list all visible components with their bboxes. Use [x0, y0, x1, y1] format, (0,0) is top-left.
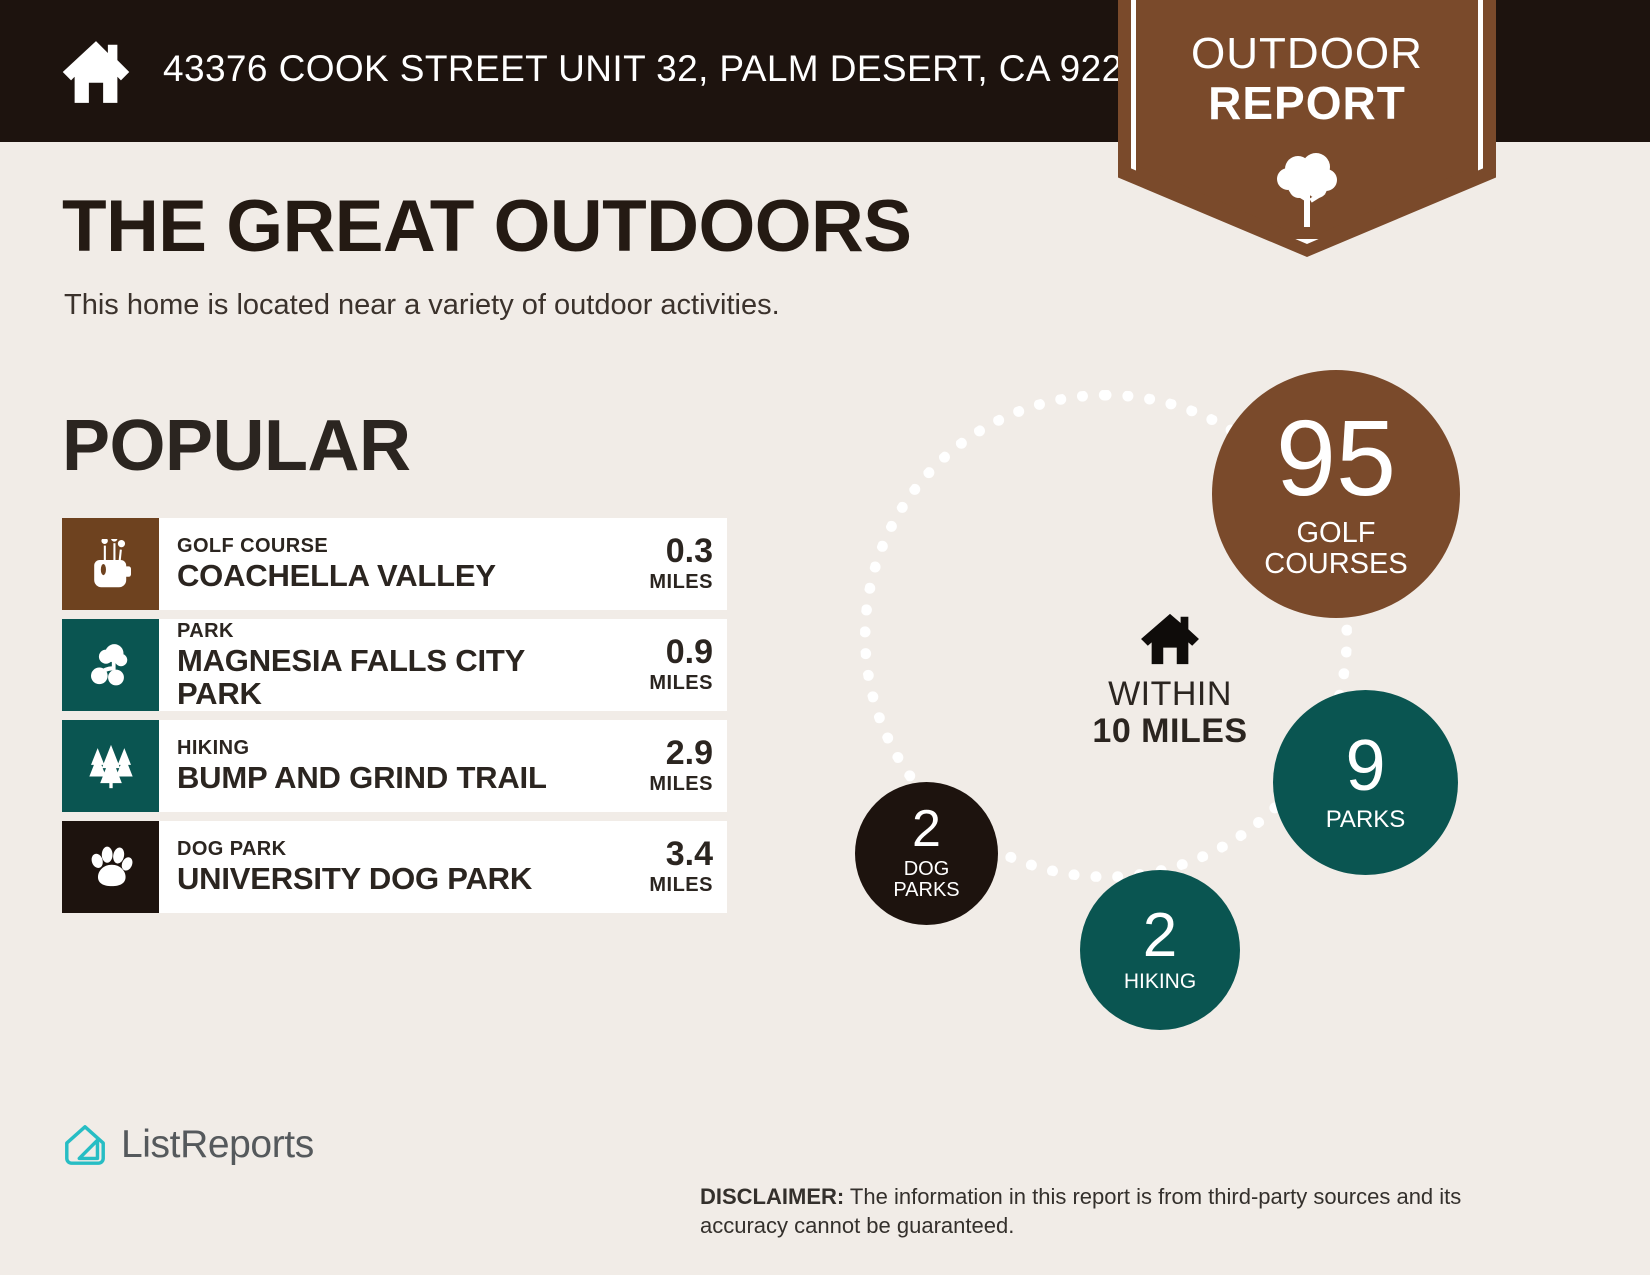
center-line-2: 10 MILES: [1035, 713, 1305, 750]
stat-label: GOLF COURSES: [1264, 518, 1407, 581]
stat-circle-hiking: 2 HIKING: [1080, 870, 1240, 1030]
listreports-wordmark: ListReports: [121, 1123, 314, 1167]
stat-label-line-1: GOLF: [1297, 517, 1376, 549]
disclaimer-label: DISCLAIMER:: [700, 1184, 844, 1209]
list-item-category: GOLF COURSE: [177, 535, 608, 558]
list-item-distance: 0.9 MILES: [608, 619, 727, 711]
paw-print-icon: [88, 844, 134, 890]
tree-icon: [1272, 147, 1342, 229]
stat-value: 2: [912, 805, 941, 854]
disclaimer: DISCLAIMER: The information in this repo…: [700, 1182, 1510, 1240]
stat-circle-golf-courses: 95 GOLF COURSES: [1212, 370, 1460, 618]
stat-label-line-1: DOG: [904, 858, 950, 880]
badge-line-2: REPORT: [1118, 80, 1496, 126]
home-icon: [58, 34, 134, 110]
list-item-distance-unit: MILES: [649, 571, 713, 594]
list-item-icon-tile: [62, 720, 159, 812]
list-item-name: BUMP AND GRIND TRAIL: [177, 762, 608, 795]
list-item-distance-value: 0.9: [666, 635, 713, 669]
popular-list: GOLF COURSE COACHELLA VALLEY 0.3 MILES: [62, 518, 727, 922]
park-tree-icon: [86, 640, 136, 690]
stat-label-line-2: PARKS: [893, 879, 959, 901]
diagram-center: WITHIN 10 MILES: [1035, 610, 1305, 751]
list-item[interactable]: DOG PARK UNIVERSITY DOG PARK 3.4 MILES: [62, 821, 727, 913]
list-item-distance-value: 3.4: [666, 837, 713, 871]
badge-line-1: OUTDOOR: [1118, 32, 1496, 76]
list-item-distance-unit: MILES: [649, 672, 713, 695]
outdoor-report-infographic: 43376 COOK STREET UNIT 32, PALM DESERT, …: [0, 0, 1650, 1275]
stat-label: HIKING: [1124, 971, 1196, 994]
list-item-distance-unit: MILES: [649, 874, 713, 897]
list-item-distance: 3.4 MILES: [608, 821, 727, 913]
list-item-icon-tile: [62, 821, 159, 913]
list-item-name: COACHELLA VALLEY: [177, 560, 608, 593]
badge-title: OUTDOOR REPORT: [1118, 32, 1496, 126]
list-item[interactable]: GOLF COURSE COACHELLA VALLEY 0.3 MILES: [62, 518, 727, 610]
page-subtitle: This home is located near a variety of o…: [64, 289, 780, 322]
listreports-house-icon: [62, 1122, 108, 1168]
stat-value: 95: [1276, 407, 1396, 510]
list-item-icon-tile: [62, 518, 159, 610]
home-icon: [1139, 610, 1201, 666]
within-10-miles-diagram: 95 GOLF COURSES 9 PARKS 2 HIKING 2 DOG P…: [830, 360, 1510, 1040]
stat-circle-dog-parks: 2 DOG PARKS: [855, 782, 998, 925]
stat-value: 9: [1345, 732, 1385, 800]
list-item-distance: 0.3 MILES: [608, 518, 727, 610]
golf-bag-icon: [87, 539, 135, 589]
property-address: 43376 COOK STREET UNIT 32, PALM DESERT, …: [163, 48, 1162, 90]
list-item-text: DOG PARK UNIVERSITY DOG PARK: [159, 821, 608, 913]
list-item[interactable]: HIKING BUMP AND GRIND TRAIL 2.9 MILES: [62, 720, 727, 812]
page-title: THE GREAT OUTDOORS: [62, 190, 911, 263]
stat-label: PARKS: [1326, 807, 1406, 833]
list-item-name: MAGNESIA FALLS CITY PARK: [177, 645, 608, 710]
list-item-distance-value: 0.3: [666, 534, 713, 568]
list-item[interactable]: PARK MAGNESIA FALLS CITY PARK 0.9 MILES: [62, 619, 727, 711]
stat-value: 2: [1143, 907, 1177, 966]
list-item-distance: 2.9 MILES: [608, 720, 727, 812]
list-item-category: DOG PARK: [177, 838, 608, 861]
list-item-name: UNIVERSITY DOG PARK: [177, 863, 608, 896]
stat-label-line-2: COURSES: [1264, 548, 1407, 580]
list-item-icon-tile: [62, 619, 159, 711]
list-item-distance-unit: MILES: [649, 773, 713, 796]
list-item-category: PARK: [177, 620, 608, 643]
list-item-text: GOLF COURSE COACHELLA VALLEY: [159, 518, 608, 610]
popular-heading: POPULAR: [62, 410, 411, 482]
list-item-category: HIKING: [177, 737, 608, 760]
stat-label: DOG PARKS: [893, 859, 959, 902]
listreports-logo[interactable]: ListReports: [62, 1122, 314, 1168]
center-line-1: WITHIN: [1035, 676, 1305, 713]
pine-trees-icon: [86, 743, 136, 790]
list-item-distance-value: 2.9: [666, 736, 713, 770]
list-item-text: HIKING BUMP AND GRIND TRAIL: [159, 720, 608, 812]
list-item-text: PARK MAGNESIA FALLS CITY PARK: [159, 619, 608, 711]
outdoor-report-badge: OUTDOOR REPORT: [1118, 0, 1496, 257]
